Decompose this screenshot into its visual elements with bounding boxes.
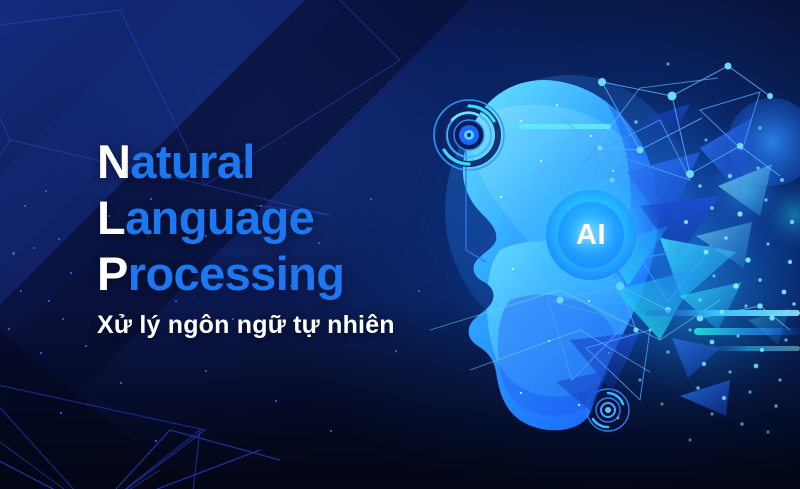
- title-line-1: Natural: [97, 134, 467, 190]
- ai-badge-ring: AI: [546, 190, 636, 280]
- title-line-1-rest: atural: [130, 135, 254, 188]
- hud-target-icon: [586, 388, 630, 432]
- nlp-banner: AI Natural Language Processing Xử lý ngô…: [0, 0, 800, 489]
- headline-block: Natural Language Processing Xử lý ngôn n…: [97, 134, 467, 340]
- title-line-2-cap: L: [97, 191, 125, 244]
- title-line-2-rest: anguage: [125, 191, 314, 244]
- title-line-3-cap: P: [97, 247, 128, 300]
- ai-badge-core: AI: [558, 202, 624, 268]
- title-line-3: Processing: [97, 246, 467, 302]
- title-line-2: Language: [97, 190, 467, 246]
- ai-badge: AI: [546, 190, 636, 280]
- subtitle: Xử lý ngôn ngữ tự nhiên: [97, 311, 467, 340]
- ai-badge-label: AI: [576, 219, 606, 252]
- title-line-3-rest: rocessing: [128, 247, 345, 300]
- title-line-1-cap: N: [97, 135, 130, 188]
